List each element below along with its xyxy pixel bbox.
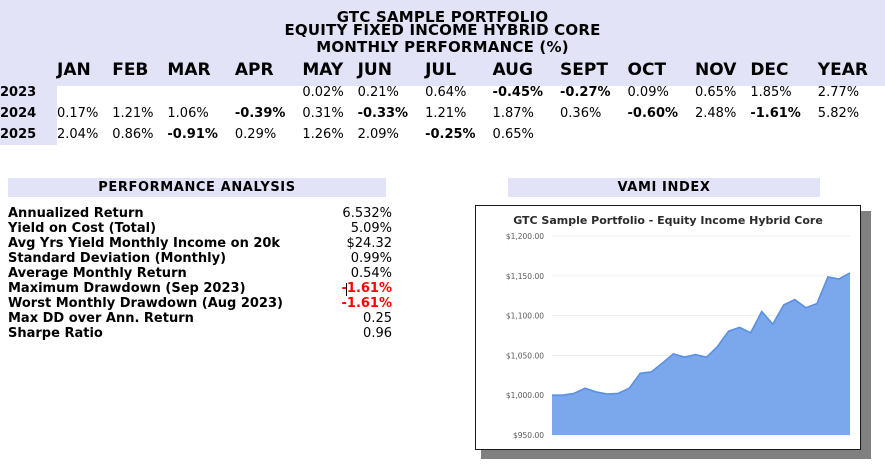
analysis-row: Annualized Return6.532% xyxy=(8,206,398,221)
performance-analysis-panel: Annualized Return6.532%Yield on Cost (To… xyxy=(8,206,398,341)
table-header-row: JAN FEB MAR APR MAY JUN JUL AUG SEPT OCT… xyxy=(0,57,885,82)
report-title-line-2: EQUITY FIXED INCOME HYBRID CORE xyxy=(0,22,885,39)
monthly-return-cell: 1.26% xyxy=(302,124,357,145)
monthly-return-cell xyxy=(560,124,627,145)
analysis-metric-label: Max DD over Ann. Return xyxy=(8,311,332,326)
analysis-metric-label: Sharpe Ratio xyxy=(8,326,332,341)
column-header-oct: OCT xyxy=(628,57,695,82)
vami-area-chart: $1,200.00$1,150.00$1,100.00$1,050.00$1,0… xyxy=(476,206,860,449)
report-title-line-3: MONTHLY PERFORMANCE (%) xyxy=(0,39,885,56)
table-row: 20252.04%0.86%-0.91%0.29%1.26%2.09%-0.25… xyxy=(0,124,885,145)
analysis-metric-label: Worst Monthly Drawdown (Aug 2023) xyxy=(8,296,332,311)
analysis-metric-value: 0.99% xyxy=(332,251,398,266)
monthly-return-cell: 0.29% xyxy=(235,124,302,145)
vami-index-heading: VAMI INDEX xyxy=(508,178,820,197)
monthly-return-cell: -0.25% xyxy=(425,124,492,145)
vami-chart-inner: GTC Sample Portfolio - Equity Income Hyb… xyxy=(476,206,860,449)
row-year-label: 2024 xyxy=(0,103,57,124)
performance-analysis-body: Annualized Return6.532%Yield on Cost (To… xyxy=(8,206,398,341)
chart-y-axis-tick-label: $1,100.00 xyxy=(506,312,544,321)
column-header-year-label xyxy=(0,57,57,82)
column-header-dec: DEC xyxy=(750,57,817,82)
monthly-return-cell: -0.27% xyxy=(560,82,627,103)
monthly-return-cell: 0.17% xyxy=(57,103,112,124)
analysis-row: Standard Deviation (Monthly)0.99% xyxy=(8,251,398,266)
monthly-return-cell: 0.31% xyxy=(302,103,357,124)
monthly-return-cell xyxy=(235,82,302,103)
monthly-return-cell: 0.64% xyxy=(425,82,492,103)
monthly-performance-table: JAN FEB MAR APR MAY JUN JUL AUG SEPT OCT… xyxy=(0,57,885,145)
monthly-return-cell: 1.21% xyxy=(112,103,167,124)
analysis-metric-value: $24.32 xyxy=(332,236,398,251)
monthly-return-cell: 0.36% xyxy=(560,103,627,124)
monthly-return-cell: 0.65% xyxy=(493,124,560,145)
analysis-metric-label: Average Monthly Return xyxy=(8,266,332,281)
monthly-return-cell: -0.91% xyxy=(167,124,234,145)
table-row: 20240.17%1.21%1.06%-0.39%0.31%-0.33%1.21… xyxy=(0,103,885,124)
monthly-return-cell: 0.86% xyxy=(112,124,167,145)
chart-y-axis-tick-label: $1,000.00 xyxy=(506,391,544,400)
analysis-metric-label: Yield on Cost (Total) xyxy=(8,221,332,236)
monthly-return-cell: -0.33% xyxy=(358,103,425,124)
analysis-metric-value: 0.25 xyxy=(332,311,398,326)
column-header-jul: JUL xyxy=(425,57,492,82)
analysis-metric-label: Annualized Return xyxy=(8,206,332,221)
column-header-aug: AUG xyxy=(493,57,560,82)
chart-y-axis-tick-label: $1,150.00 xyxy=(506,272,544,281)
monthly-return-cell: -0.60% xyxy=(628,103,695,124)
column-header-jan: JAN xyxy=(57,57,112,82)
analysis-row: Sharpe Ratio0.96 xyxy=(8,326,398,341)
table-row: 20230.02%0.21%0.64%-0.45%-0.27%0.09%0.65… xyxy=(0,82,885,103)
monthly-return-cell xyxy=(818,124,885,145)
column-header-apr: APR xyxy=(235,57,302,82)
monthly-return-cell: 1.06% xyxy=(167,103,234,124)
analysis-row: Worst Monthly Drawdown (Aug 2023)-1.61% xyxy=(8,296,398,311)
monthly-return-cell xyxy=(750,124,817,145)
analysis-metric-label: Standard Deviation (Monthly) xyxy=(8,251,332,266)
monthly-return-cell: 1.85% xyxy=(750,82,817,103)
monthly-return-cell: -1.61% xyxy=(750,103,817,124)
chart-area-fill xyxy=(552,273,850,435)
analysis-row: Average Monthly Return0.54% xyxy=(8,266,398,281)
analysis-metric-value: -1.61% xyxy=(332,296,398,311)
monthly-return-cell: 2.04% xyxy=(57,124,112,145)
vami-chart-container: GTC Sample Portfolio - Equity Income Hyb… xyxy=(475,205,861,450)
analysis-metric-value: -1.61% xyxy=(332,281,398,296)
monthly-return-cell xyxy=(628,124,695,145)
text-cursor-caret xyxy=(346,283,347,296)
column-header-nov: NOV xyxy=(695,57,750,82)
monthly-return-cell: 5.82% xyxy=(818,103,885,124)
analysis-row: Yield on Cost (Total)5.09% xyxy=(8,221,398,236)
column-header-may: MAY xyxy=(302,57,357,82)
monthly-return-cell xyxy=(57,82,112,103)
analysis-row: Maximum Drawdown (Sep 2023)-1.61% xyxy=(8,281,398,296)
monthly-return-cell: 0.02% xyxy=(302,82,357,103)
column-header-year: YEAR xyxy=(818,57,885,82)
column-header-feb: FEB xyxy=(112,57,167,82)
analysis-metric-value: 0.96 xyxy=(332,326,398,341)
row-year-label: 2023 xyxy=(0,82,57,103)
monthly-return-cell: 2.48% xyxy=(695,103,750,124)
performance-analysis-table: Annualized Return6.532%Yield on Cost (To… xyxy=(8,206,398,341)
analysis-row: Max DD over Ann. Return0.25 xyxy=(8,311,398,326)
monthly-return-cell: 0.65% xyxy=(695,82,750,103)
analysis-metric-label: Avg Yrs Yield Monthly Income on 20k xyxy=(8,236,332,251)
column-header-jun: JUN xyxy=(358,57,425,82)
monthly-return-cell: 0.09% xyxy=(628,82,695,103)
monthly-return-cell: 0.21% xyxy=(358,82,425,103)
analysis-metric-value: 5.09% xyxy=(332,221,398,236)
monthly-performance-table-body: 20230.02%0.21%0.64%-0.45%-0.27%0.09%0.65… xyxy=(0,82,885,145)
monthly-return-cell xyxy=(695,124,750,145)
monthly-return-cell xyxy=(167,82,234,103)
analysis-metric-label: Maximum Drawdown (Sep 2023) xyxy=(8,281,332,296)
row-year-label: 2025 xyxy=(0,124,57,145)
monthly-return-cell: 1.21% xyxy=(425,103,492,124)
monthly-return-cell: -0.45% xyxy=(493,82,560,103)
column-header-mar: MAR xyxy=(167,57,234,82)
analysis-metric-value: 0.54% xyxy=(332,266,398,281)
chart-y-axis-tick-label: $1,200.00 xyxy=(506,232,544,241)
column-header-sept: SEPT xyxy=(560,57,627,82)
monthly-return-cell xyxy=(112,82,167,103)
monthly-return-cell: 1.87% xyxy=(493,103,560,124)
analysis-row: Avg Yrs Yield Monthly Income on 20k$24.3… xyxy=(8,236,398,251)
chart-y-axis-tick-label: $950.00 xyxy=(513,431,544,440)
performance-analysis-heading: PERFORMANCE ANALYSIS xyxy=(8,178,386,197)
chart-y-axis-tick-label: $1,050.00 xyxy=(506,351,544,360)
monthly-return-cell: 2.77% xyxy=(818,82,885,103)
monthly-return-cell: -0.39% xyxy=(235,103,302,124)
analysis-metric-value: 6.532% xyxy=(332,206,398,221)
monthly-return-cell: 2.09% xyxy=(358,124,425,145)
